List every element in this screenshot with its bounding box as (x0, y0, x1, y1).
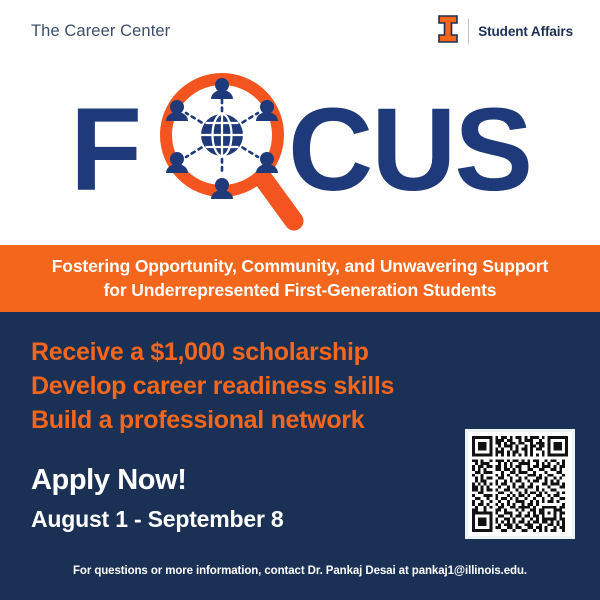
illinois-block-i-icon (437, 15, 459, 48)
benefit-item: Build a professional network (31, 403, 394, 437)
focus-wordmark: F (0, 62, 600, 245)
illinois-student-affairs-logo: Student Affairs (437, 15, 573, 48)
benefits-list: Receive a $1,000 scholarship Develop car… (31, 335, 394, 437)
logo-divider (468, 19, 469, 44)
tagline-band: Fostering Opportunity, Community, and Un… (0, 245, 600, 312)
wordmark-letters-cus: CUS (288, 91, 531, 209)
poster-header: The Career Center Student Affairs (0, 0, 600, 62)
qr-code-icon (472, 436, 568, 532)
body-panel: Receive a $1,000 scholarship Develop car… (0, 312, 600, 600)
tagline-line-2: for Underrepresented First-Generation St… (104, 280, 497, 301)
benefit-item: Develop career readiness skills (31, 369, 394, 403)
magnifying-glass-network-icon (156, 69, 308, 239)
benefit-item: Receive a $1,000 scholarship (31, 335, 394, 369)
qr-code[interactable] (465, 429, 575, 539)
unit-name: The Career Center (31, 22, 170, 41)
tagline-line-1: Fostering Opportunity, Community, and Un… (52, 256, 549, 277)
logo-wordmark: Student Affairs (478, 24, 573, 39)
application-dates: August 1 - September 8 (31, 506, 284, 534)
poster: The Career Center Student Affairs F (0, 0, 600, 600)
call-to-action: Apply Now! August 1 - September 8 (31, 464, 284, 534)
wordmark-letter-f: F (70, 91, 140, 209)
contact-note: For questions or more information, conta… (0, 565, 600, 577)
apply-now-title: Apply Now! (31, 464, 284, 497)
